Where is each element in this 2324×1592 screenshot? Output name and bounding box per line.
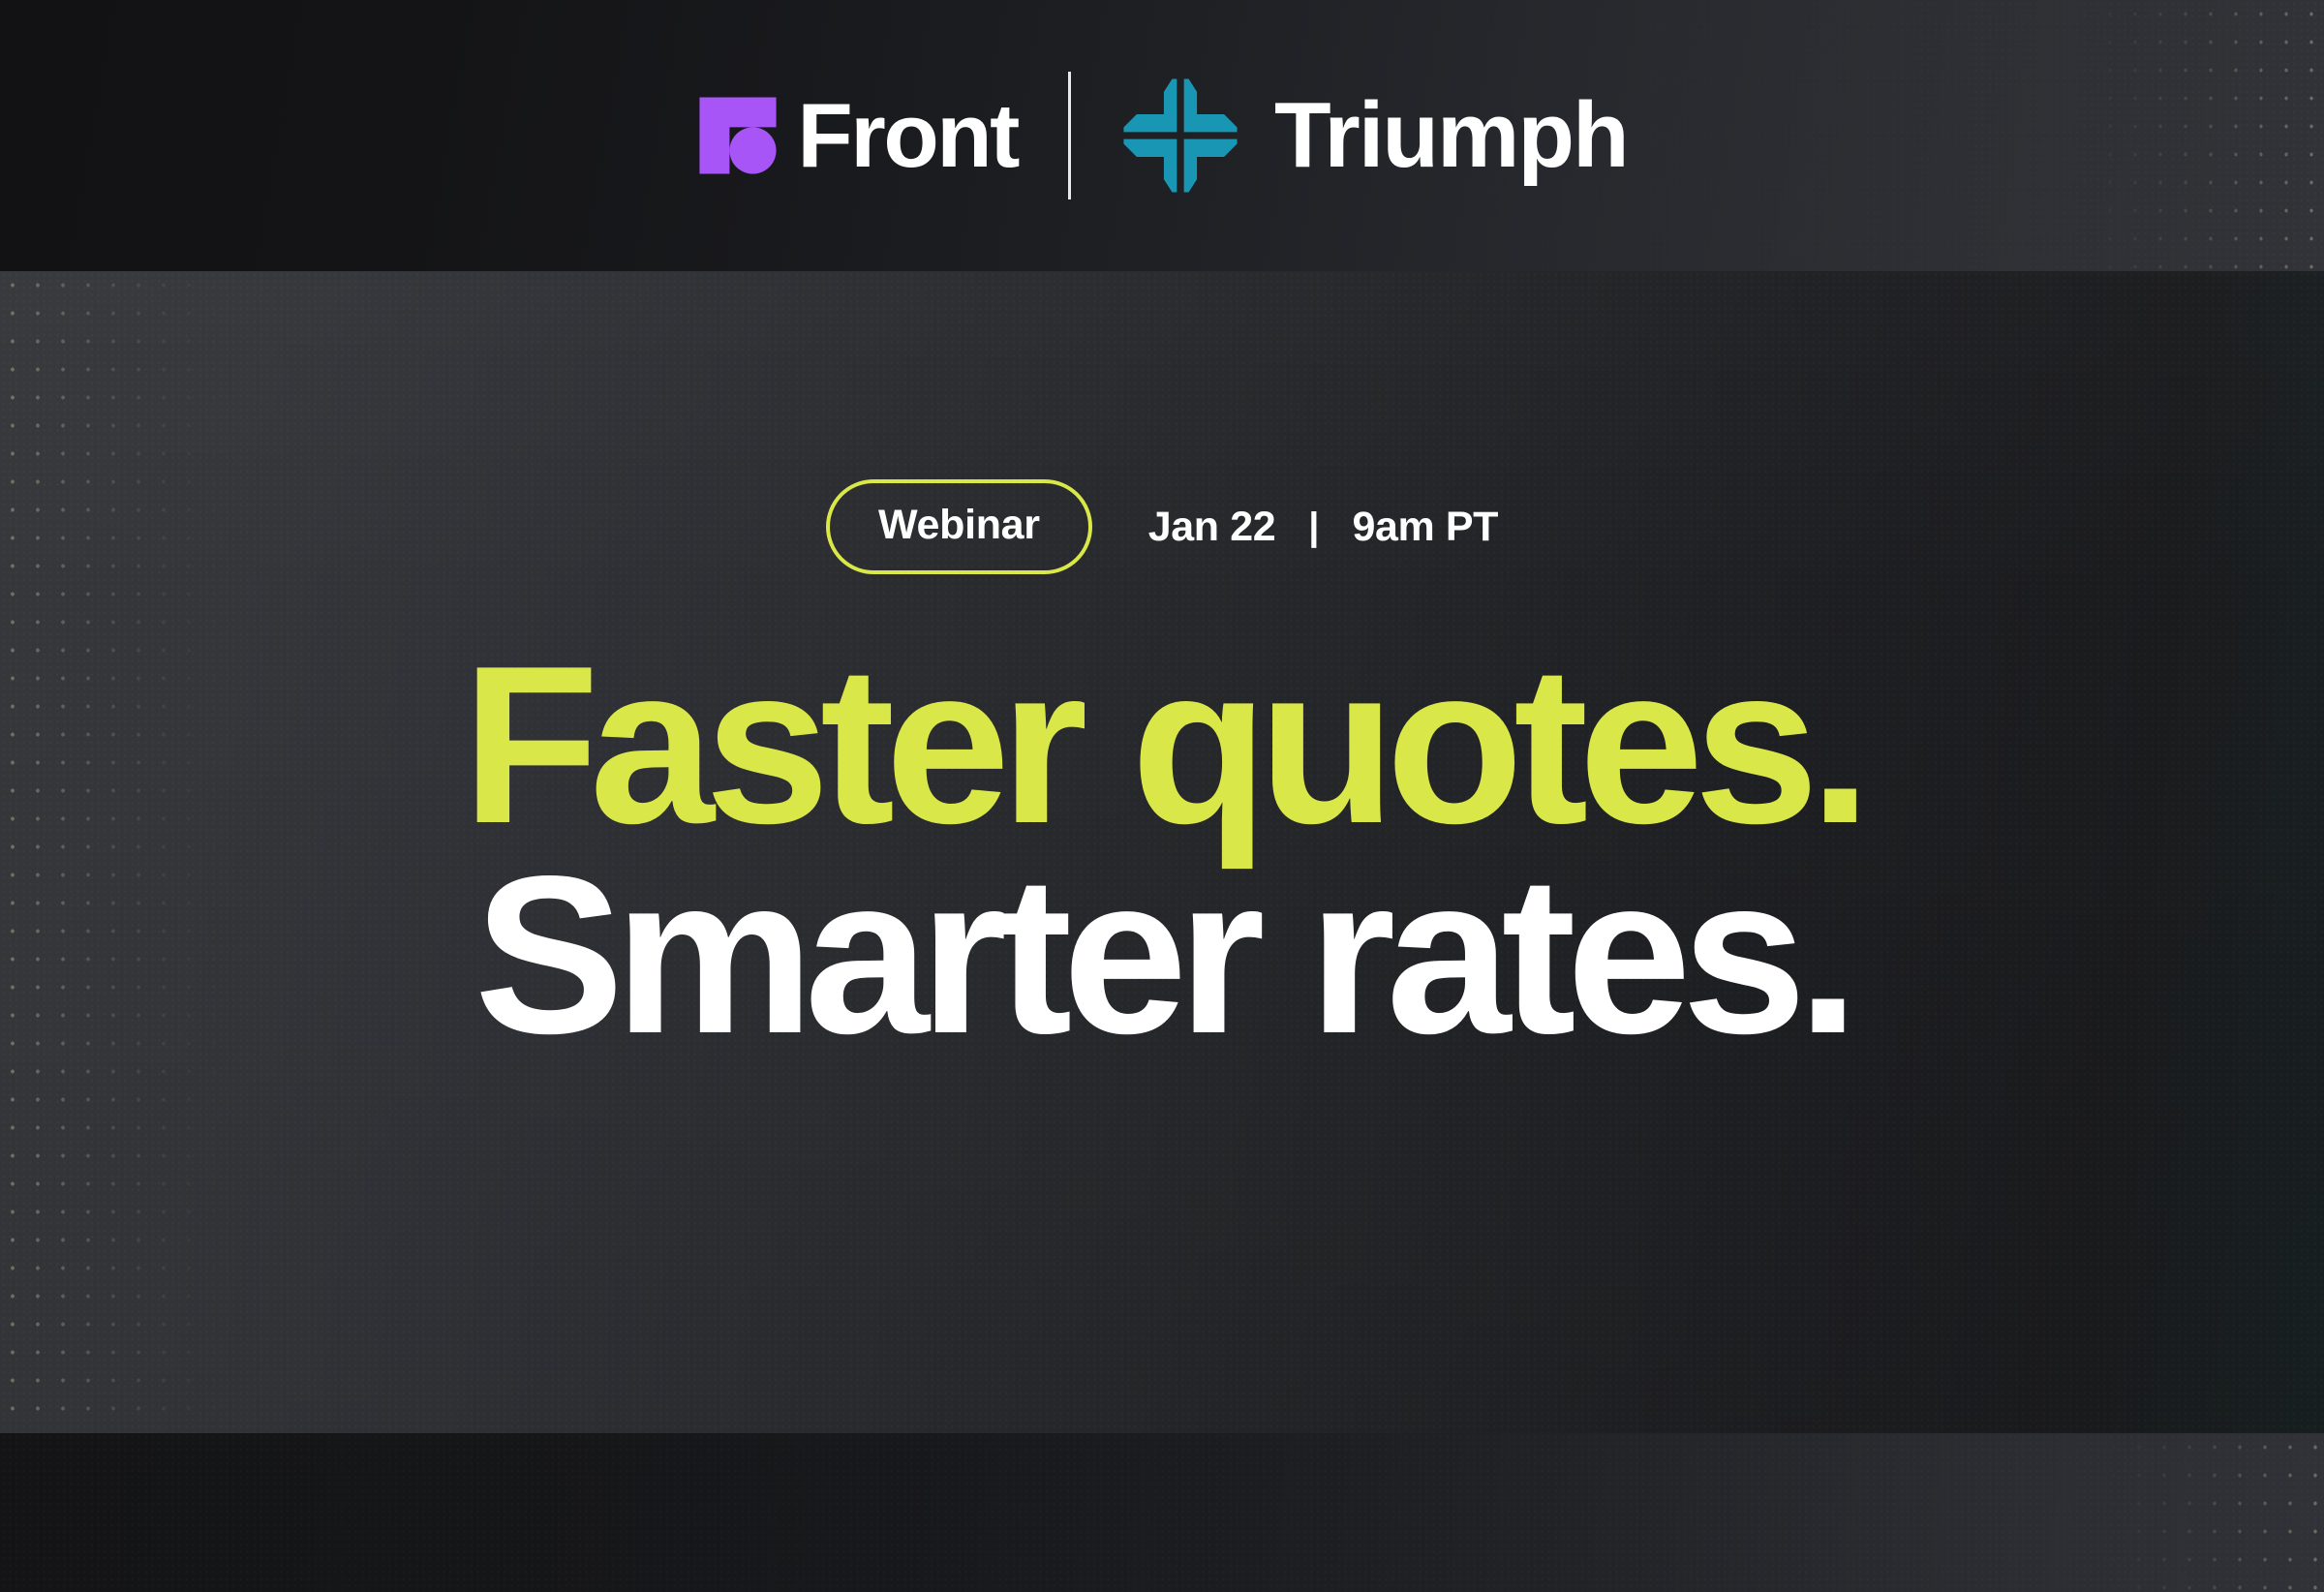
brand-divider xyxy=(1068,72,1071,199)
event-meta-row: Webinar Jan 22 | 9am PT xyxy=(0,479,2324,574)
logo-lockup-row: Front Trium xyxy=(0,0,2324,271)
meta-separator: | xyxy=(1308,507,1319,546)
footer-band xyxy=(0,1433,2324,1592)
hero-content: Webinar Jan 22 | 9am PT Faster quotes. S… xyxy=(0,271,2324,1433)
footer-noise-texture xyxy=(0,1433,2324,1592)
triumph-wordmark: Triumph xyxy=(1274,89,1628,182)
hero-stage: Webinar Jan 22 | 9am PT Faster quotes. S… xyxy=(0,271,2324,1433)
event-time: 9am PT xyxy=(1352,506,1498,548)
logo-header-bar: Front Trium xyxy=(0,0,2324,271)
webinar-promo-poster: Front Trium xyxy=(0,0,2324,1592)
triumph-brand-lockup: Triumph xyxy=(1121,77,1628,195)
front-logo-icon xyxy=(696,94,780,177)
webinar-badge: Webinar xyxy=(826,479,1092,574)
front-brand-lockup: Front xyxy=(696,90,1018,181)
footer-dot-pattern xyxy=(2101,1433,2324,1592)
page-title: Faster quotes. Smarter rates. xyxy=(0,641,2324,1061)
headline-line-1: Faster quotes. xyxy=(0,641,2324,851)
event-date: Jan 22 xyxy=(1148,506,1275,548)
front-wordmark: Front xyxy=(797,90,1018,181)
triumph-logo-icon xyxy=(1121,77,1239,195)
headline-line-2: Smarter rates. xyxy=(0,851,2324,1061)
